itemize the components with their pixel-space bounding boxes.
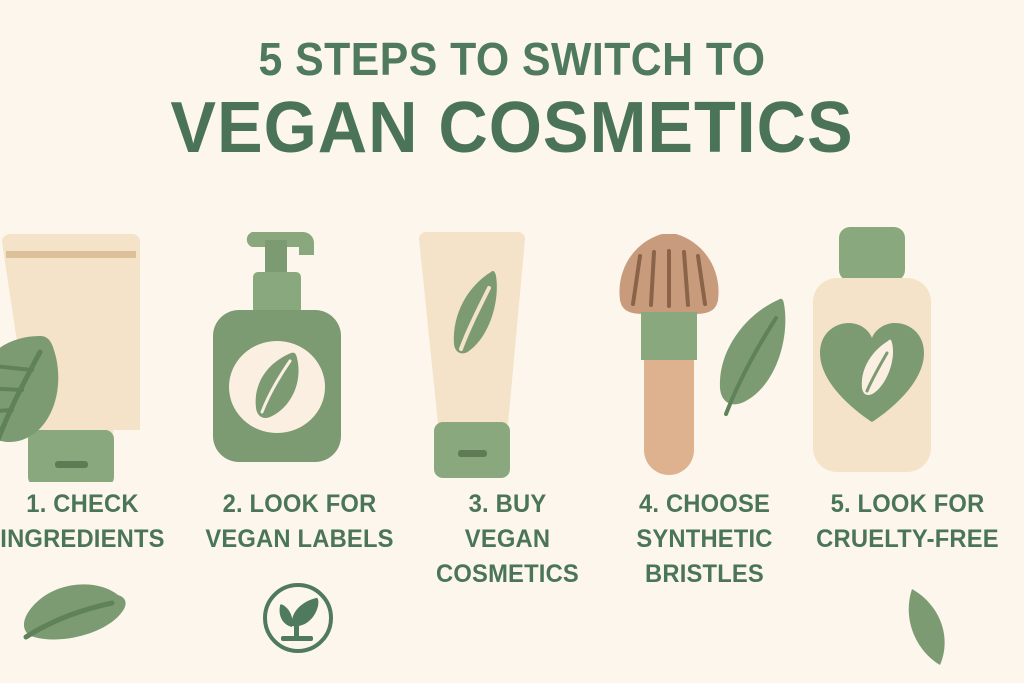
vegan-badge [258,578,338,663]
veined-leaf-icon [14,575,134,665]
makeup-brush-icon [600,222,805,482]
step-5-illustration [805,222,1010,482]
step-4-illustration [600,222,805,482]
title-line-2: VEGAN COSMETICS [26,88,999,168]
simple-leaf-icon [896,585,966,675]
leaf-bottom-left [14,575,134,670]
page-title: 5 STEPS TO SWITCH TO VEGAN COSMETICS [0,32,1024,168]
heart-bottle-icon [805,222,1010,482]
leaf-tube-icon [390,222,595,482]
pump-bottle-illustration [195,222,400,482]
makeup-brush-illustration [600,222,805,482]
title-line-1: 5 STEPS TO SWITCH TO [36,32,988,86]
step-3-illustration [390,222,595,482]
leaf-tube-illustration [390,222,595,482]
veined-leaf-icon [0,330,78,480]
step-2-illustration [195,222,400,482]
steps-illustration-row [0,222,1024,522]
step-label-3: 3. BUY VEGAN COSMETICS [410,487,605,592]
step-label-2: 2. LOOK FOR VEGAN LABELS [202,487,397,557]
sprout-circle-badge-icon [258,578,338,658]
step-label-5: 5. LOOK FOR CRUELTY-FREE [810,487,1005,557]
infographic-poster: 5 STEPS TO SWITCH TO VEGAN COSMETICS [0,0,1024,683]
steps-label-row: 1. CHECK INGREDIENTS 2. LOOK FOR VEGAN L… [0,487,1024,607]
pump-bottle-icon [195,222,400,482]
leaf-left-edge [0,330,78,485]
step-label-4: 4. CHOOSE SYNTHETIC BRISTLES [607,487,802,592]
cruelty-free-bottle-illustration [805,222,1010,482]
leaf-bottom-right [896,585,966,680]
step-label-1: 1. CHECK INGREDIENTS [0,487,180,557]
